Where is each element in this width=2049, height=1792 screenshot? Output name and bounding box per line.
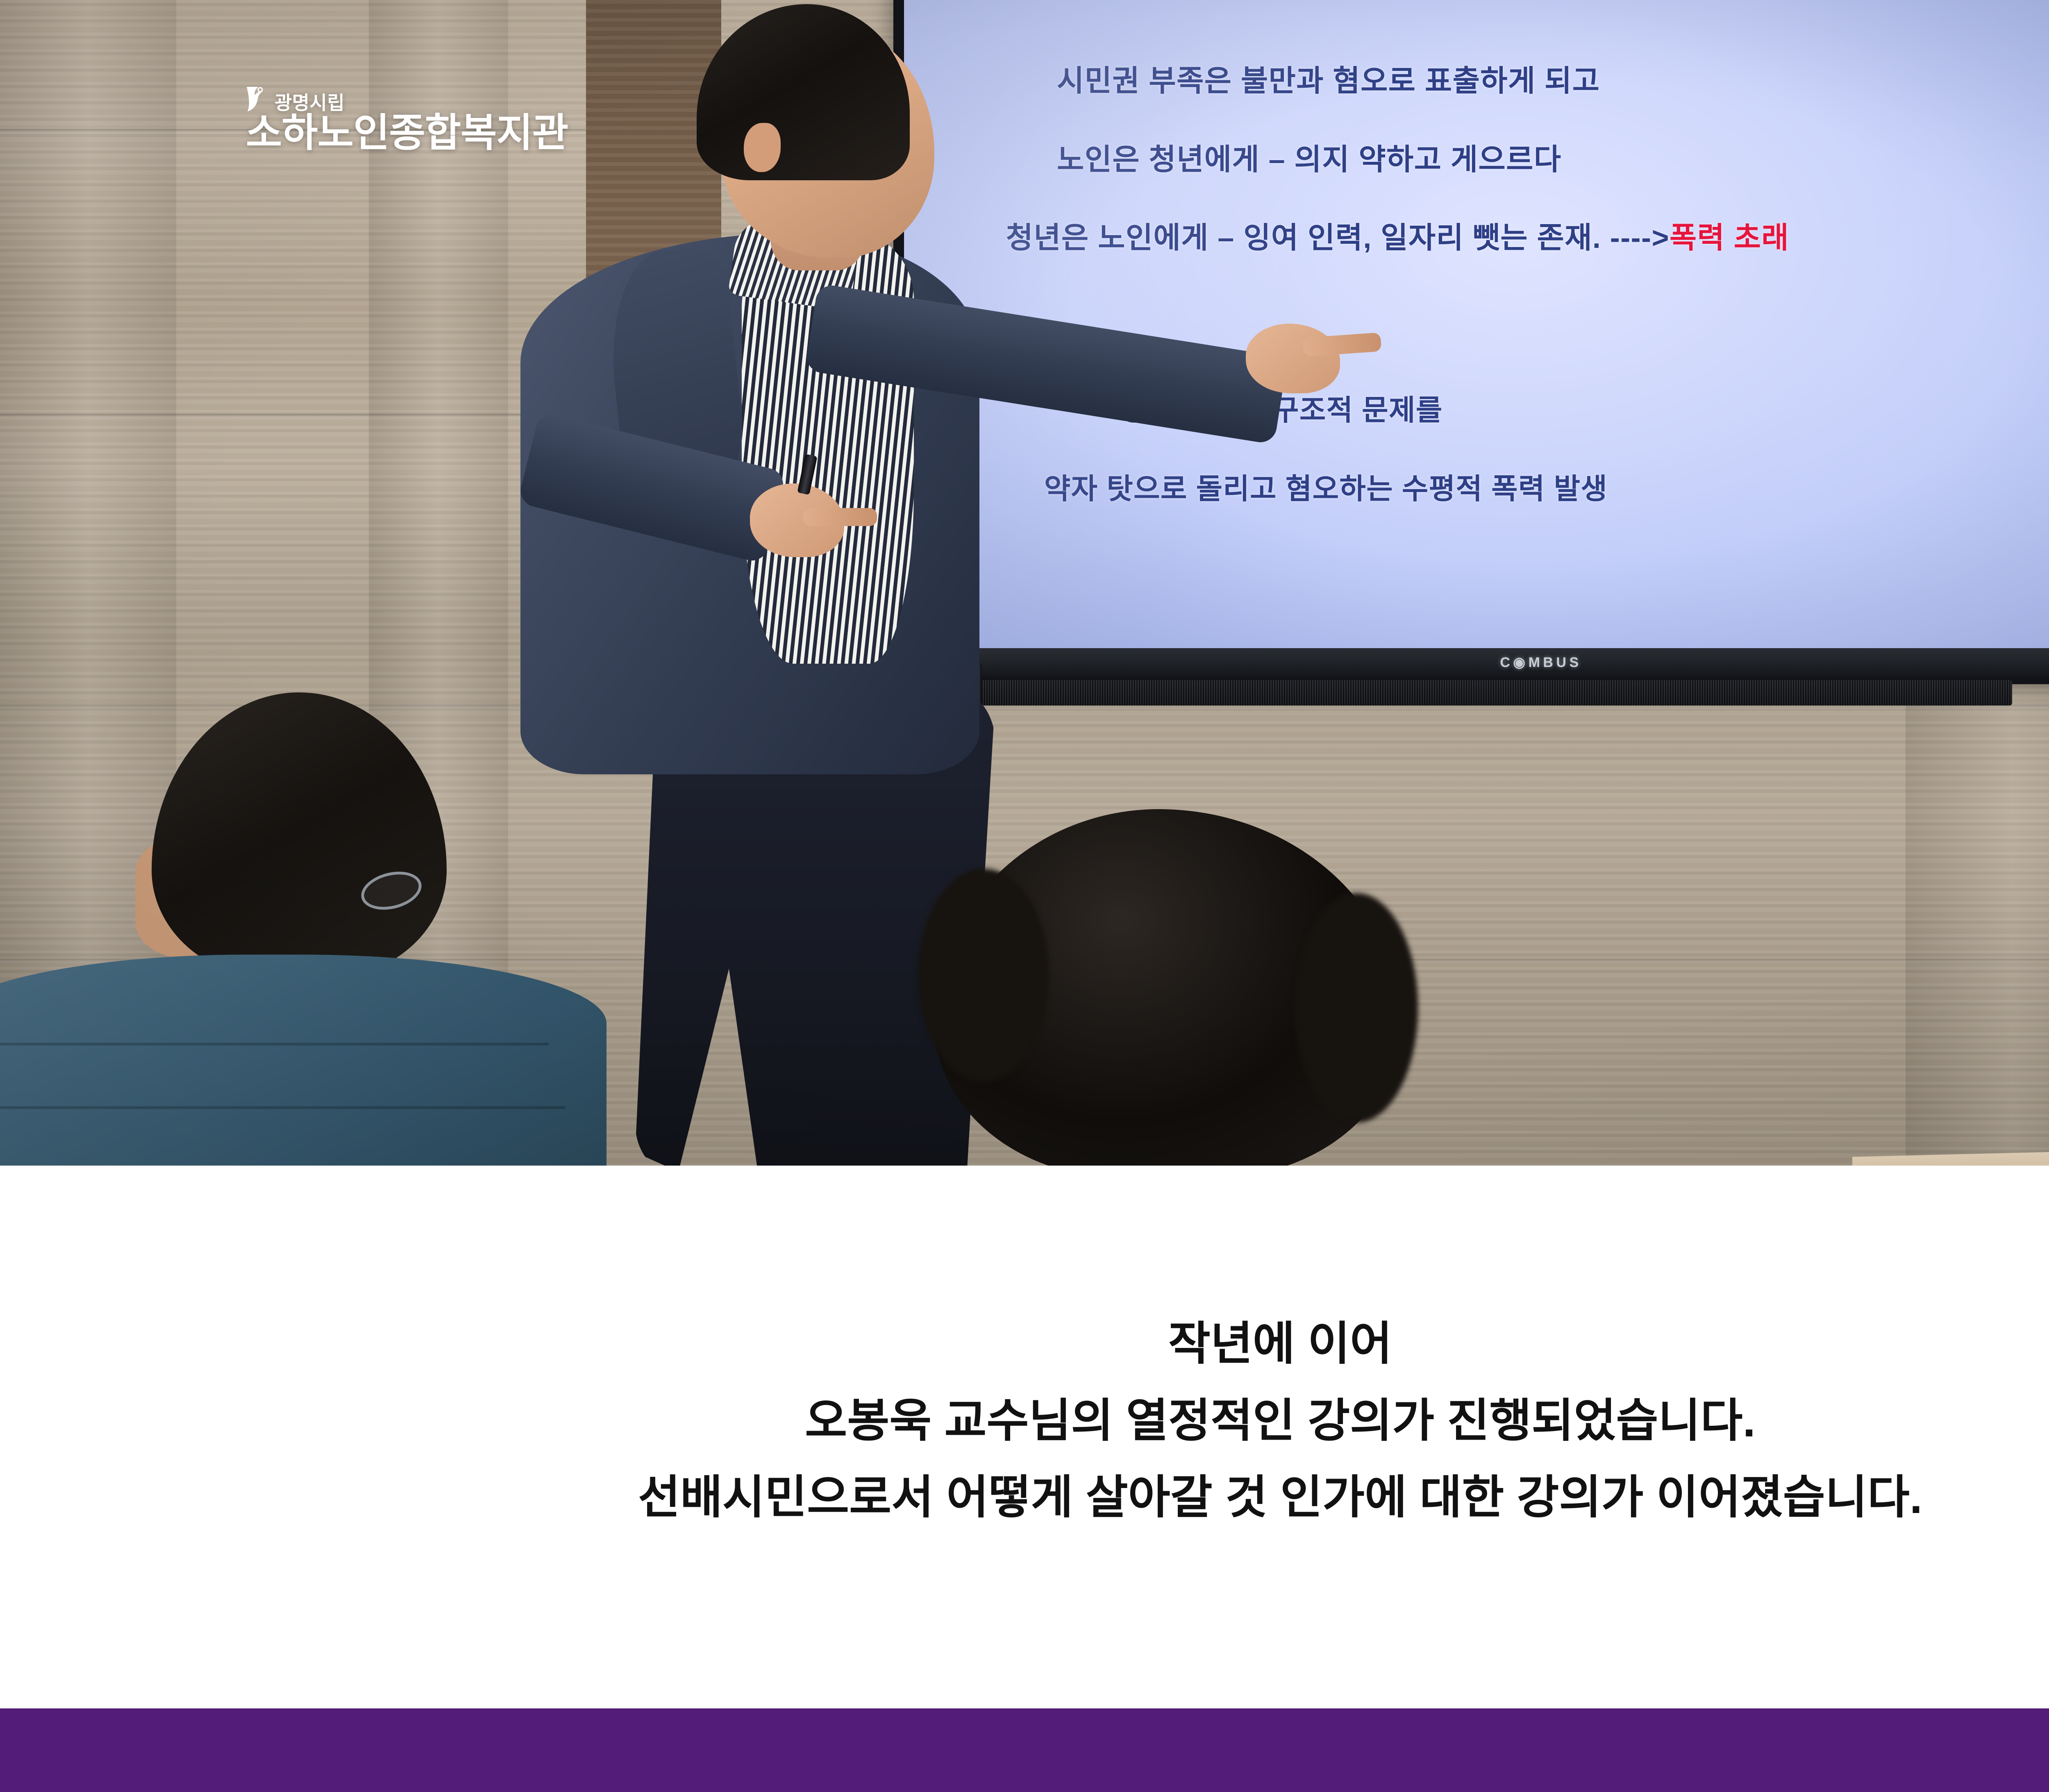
caption-line-2: 오봉욱 교수님의 열정적인 강의가 진행되었습니다.	[805, 1391, 1755, 1450]
slide-line-3-text: 청년은 노인에게 – 잉여 인력, 일자리 뺏는 존재. ---->	[1006, 222, 1670, 254]
watermark-center-name: 소하노인종합복지관	[246, 113, 568, 153]
combus-brand-logo: C◉MBUS	[1500, 654, 1581, 671]
watermark-city-label: 광명시립	[275, 93, 345, 112]
bird-mark-icon	[246, 86, 269, 112]
audience-center-hair	[918, 869, 1049, 1082]
footer-color-bar	[0, 1708, 2049, 1792]
slide-line-2: 노인은 청년에게 – 의지 약하고 게으르다	[1057, 135, 1562, 178]
vest-seam	[0, 1043, 549, 1046]
organization-watermark: 광명시립 소하노인종합복지관	[246, 86, 568, 153]
audience-left-vest	[0, 955, 607, 1166]
display-speaker-grille	[963, 680, 2012, 705]
audience-center-hair	[1295, 893, 1418, 1123]
slide-line-5: 약자 탓으로 돌리고 혐오하는 수평적 폭력 발생	[1044, 466, 1608, 507]
presenter-ear	[744, 123, 781, 172]
display-chin-bar: C◉MBUS	[904, 648, 2049, 677]
slide-line-3-accent: 폭력 초래	[1670, 222, 1789, 254]
slide-line-1: 시민권 부족은 불만과 혐오로 표출하게 되고	[1057, 57, 1600, 100]
caption-line-1: 작년에 이어	[1168, 1314, 1392, 1373]
slide-line-3: 청년은 노인에게 – 잉여 인력, 일자리 뺏는 존재. ---->폭력 초래	[1006, 213, 1790, 256]
vest-seam	[0, 1106, 566, 1109]
caption-line-3: 선배시민으로서 어떻게 살아갈 것 인가에 대한 강의가 이어졌습니다.	[638, 1468, 1922, 1527]
caption-block: 작년에 이어 오봉욱 교수님의 열정적인 강의가 진행되었습니다. 선배시민으로…	[0, 1166, 2049, 1708]
lecture-photo: 시민권 부족은 불만과 혐오로 표출하게 되고 노인은 청년에게 – 의지 약하…	[0, 0, 2049, 1166]
presenter-lower-finger	[803, 508, 877, 526]
